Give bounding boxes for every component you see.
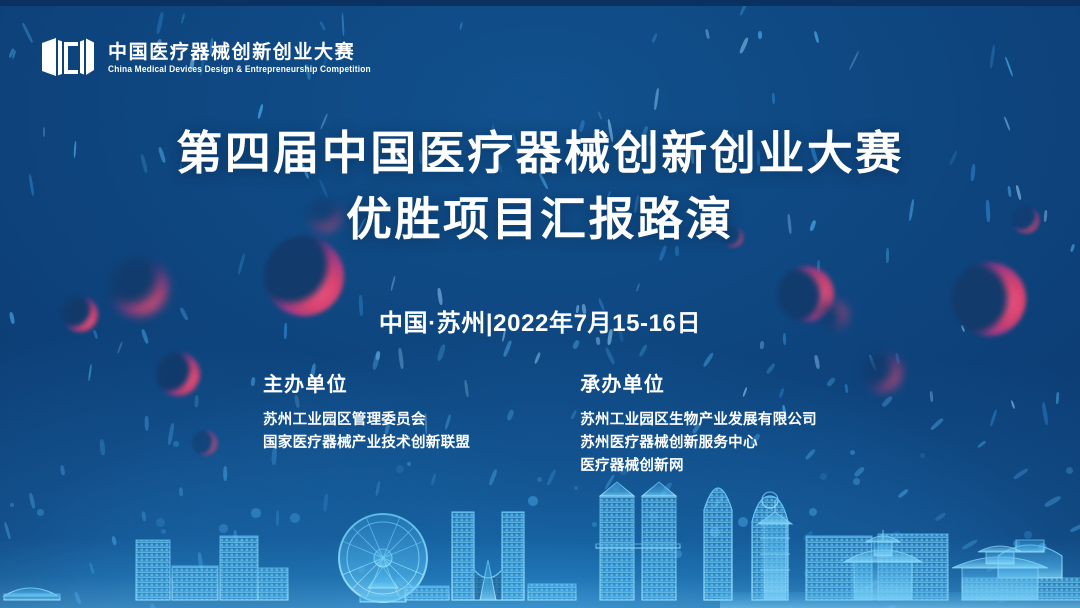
competition-logo: 中国医疗器械创新创业大赛 China Medical Devices Desig… — [34, 26, 371, 88]
page-title: 第四届中国医疗器械创新创业大赛 优胜项目汇报路演 — [0, 124, 1080, 248]
logo-english-name: China Medical Devices Design & Entrepren… — [108, 64, 371, 73]
decorative-dash — [181, 13, 186, 24]
organizer-section: 主办单位苏州工业园区管理委员会国家医疗器械产业技术创新联盟承办单位苏州工业园区生… — [0, 368, 1080, 478]
decorative-dash — [705, 29, 710, 40]
decorative-arc-dash — [436, 344, 446, 362]
decorative-dash — [459, 22, 463, 30]
decorative-dash — [739, 37, 749, 54]
decorative-dash — [1004, 56, 1013, 76]
organizer-name: 苏州医疗器械创新服务中心 — [580, 432, 817, 455]
decorative-arc-dash — [702, 352, 714, 367]
logo-text-group: 中国医疗器械创新创业大赛 China Medical Devices Desig… — [108, 41, 371, 73]
open-door-book-logo-icon — [34, 26, 96, 88]
organizer-name: 国家医疗器械产业技术创新联盟 — [263, 432, 470, 455]
decorative-dash — [760, 341, 764, 349]
decorative-arc-dash — [503, 340, 513, 357]
decorative-dash — [989, 45, 995, 68]
decorative-dash — [604, 347, 615, 365]
organizer-name: 苏州工业园区生物产业发展有限公司 — [580, 409, 817, 432]
organizer-heading: 主办单位 — [263, 368, 470, 397]
decorative-dash — [653, 88, 659, 110]
organizer-column-1: 承办单位苏州工业园区生物产业发展有限公司苏州医疗器械创新服务中心医疗器械创新网 — [580, 368, 817, 478]
decorative-dash — [597, 111, 603, 120]
title-line-2: 优胜项目汇报路演 — [0, 190, 1080, 248]
decorative-dash — [758, 31, 762, 39]
event-date-location: 中国·苏州|2022年7月15-16日 — [0, 303, 1080, 338]
logo-chinese-name: 中国医疗器械创新创业大赛 — [108, 43, 371, 62]
decorative-arc-dash — [638, 344, 648, 357]
poster-canvas: 中国医疗器械创新创业大赛 China Medical Devices Desig… — [0, 0, 1080, 608]
decorative-dash — [651, 33, 657, 44]
organizer-column-0: 主办单位苏州工业园区管理委员会国家医疗器械产业技术创新联盟 — [263, 368, 470, 478]
decorative-arc-dash — [572, 339, 580, 349]
title-line-1: 第四届中国医疗器械创新创业大赛 — [0, 124, 1080, 182]
decorative-dash — [848, 51, 859, 71]
decorative-dash — [772, 93, 776, 104]
decorative-dash — [237, 253, 246, 275]
decorative-dash — [390, 276, 396, 291]
organizer-name: 苏州工业园区管理委员会 — [263, 409, 470, 432]
decorative-dash — [398, 348, 404, 369]
decorative-dash — [117, 341, 124, 354]
decorative-dash — [814, 355, 820, 369]
decorative-dash — [21, 23, 33, 44]
decorative-dash — [814, 31, 820, 43]
decorative-dash — [257, 104, 264, 119]
decorative-dash — [636, 283, 641, 292]
decorative-dash — [739, 1, 748, 16]
decorative-dash — [886, 248, 889, 263]
organizer-name: 医疗器械创新网 — [580, 455, 817, 478]
skyline-right-landmarks — [720, 458, 1080, 608]
organizer-heading: 承办单位 — [580, 368, 817, 397]
decorative-dash — [534, 352, 541, 364]
